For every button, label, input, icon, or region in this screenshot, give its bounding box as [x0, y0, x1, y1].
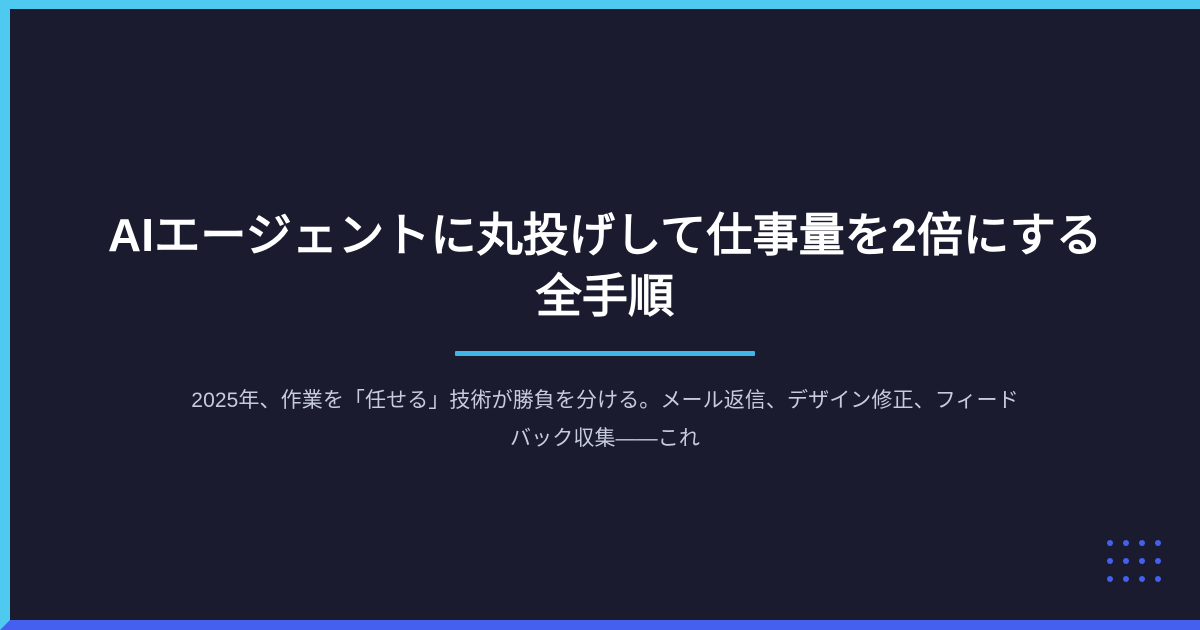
og-card: AIエージェントに丸投げして仕事量を2倍にする 全手順 2025年、作業を「任せ… [0, 0, 1200, 630]
dot-icon [1107, 540, 1113, 546]
dot-icon [1139, 558, 1145, 564]
dot-icon [1123, 540, 1129, 546]
page-subtitle: 2025年、作業を「任せる」技術が勝負を分ける。メール返信、デザイン修正、フィー… [82, 382, 1128, 457]
dot-icon [1155, 558, 1161, 564]
dot-icon [1155, 540, 1161, 546]
dot-grid-decoration [1102, 534, 1166, 588]
title-divider [455, 351, 755, 356]
dot-icon [1139, 540, 1145, 546]
dot-icon [1123, 576, 1129, 582]
dot-icon [1123, 558, 1129, 564]
dot-icon [1139, 576, 1145, 582]
content-stack: AIエージェントに丸投げして仕事量を2倍にする 全手順 2025年、作業を「任せ… [10, 205, 1200, 457]
card-body: AIエージェントに丸投げして仕事量を2倍にする 全手順 2025年、作業を「任せ… [10, 9, 1200, 620]
dot-icon [1107, 558, 1113, 564]
dot-icon [1107, 576, 1113, 582]
page-title: AIエージェントに丸投げして仕事量を2倍にする 全手順 [82, 205, 1128, 327]
dot-icon [1155, 576, 1161, 582]
title-divider-wrap [82, 351, 1128, 356]
